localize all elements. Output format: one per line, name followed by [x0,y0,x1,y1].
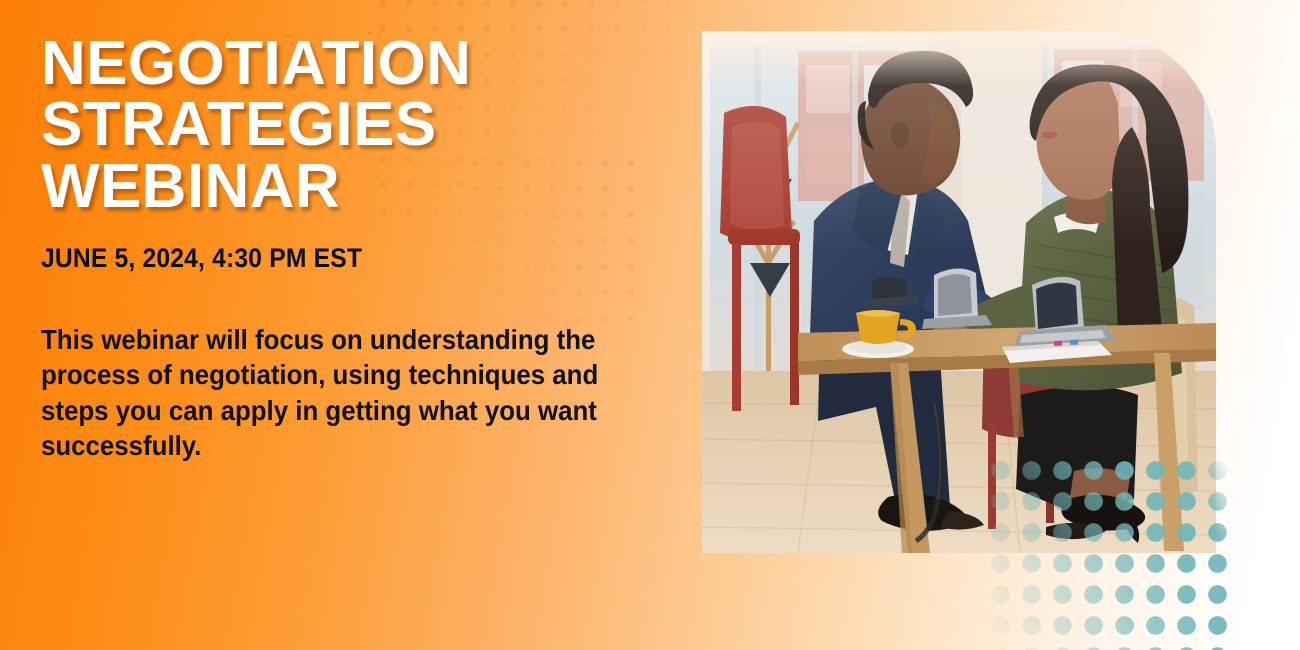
page-title: NEGOTIATION STRATEGIES WEBINAR [41,33,701,217]
webinar-promo-banner: NEGOTIATION STRATEGIES WEBINAR JUNE 5, 2… [0,0,1300,650]
office-negotiation-illustration [702,31,1216,553]
event-photo [702,31,1216,553]
text-column: NEGOTIATION STRATEGIES WEBINAR JUNE 5, 2… [41,33,701,463]
event-datetime: JUNE 5, 2024, 4:30 PM EST [41,243,655,274]
event-description: This webinar will focus on understanding… [41,322,661,463]
